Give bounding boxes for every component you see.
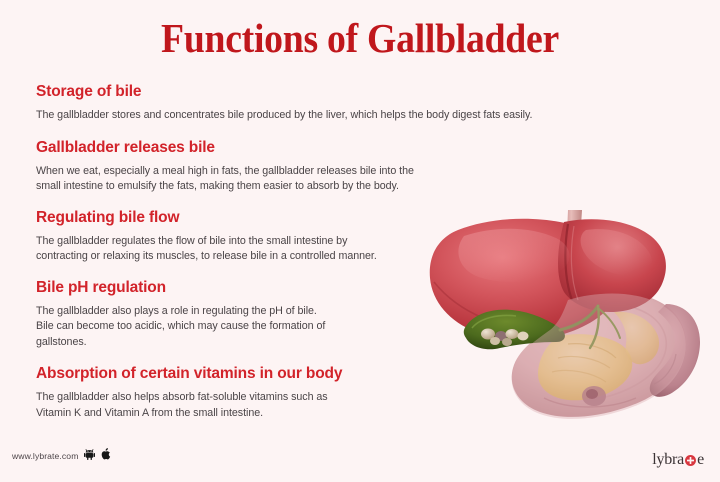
- brand-text-pre: lybra: [652, 451, 684, 469]
- section-body: The gallbladder stores and concentrates …: [36, 108, 616, 124]
- site-url[interactable]: www.lybrate.com: [12, 451, 78, 461]
- infographic-canvas: Functions of Gallbladder Storage of bile…: [0, 0, 720, 482]
- body-line: The gallbladder stores and concentrates …: [36, 108, 616, 124]
- android-icon[interactable]: [84, 447, 95, 465]
- body-line: small intestine to emulsify the fats, ma…: [36, 179, 616, 195]
- lybrate-logo[interactable]: lybra e: [652, 451, 704, 469]
- page-title: Functions of Gallbladder: [29, 14, 691, 62]
- section-heading: Gallbladder releases bile: [36, 138, 616, 157]
- anatomy-illustration: [418, 208, 720, 452]
- section-heading: Storage of bile: [36, 82, 616, 101]
- body-line: When we eat, especially a meal high in f…: [36, 164, 616, 180]
- section-gallbladder-releases-bile: Gallbladder releases bile When we eat, e…: [36, 138, 616, 195]
- brand-text-post: e: [697, 451, 704, 469]
- section-storage-of-bile: Storage of bile The gallbladder stores a…: [36, 82, 616, 124]
- medical-cross-icon: [684, 454, 697, 467]
- footer-left: www.lybrate.com: [12, 447, 111, 465]
- duodenum-shape: [582, 386, 606, 406]
- section-body: When we eat, especially a meal high in f…: [36, 164, 616, 195]
- apple-icon[interactable]: [101, 447, 111, 465]
